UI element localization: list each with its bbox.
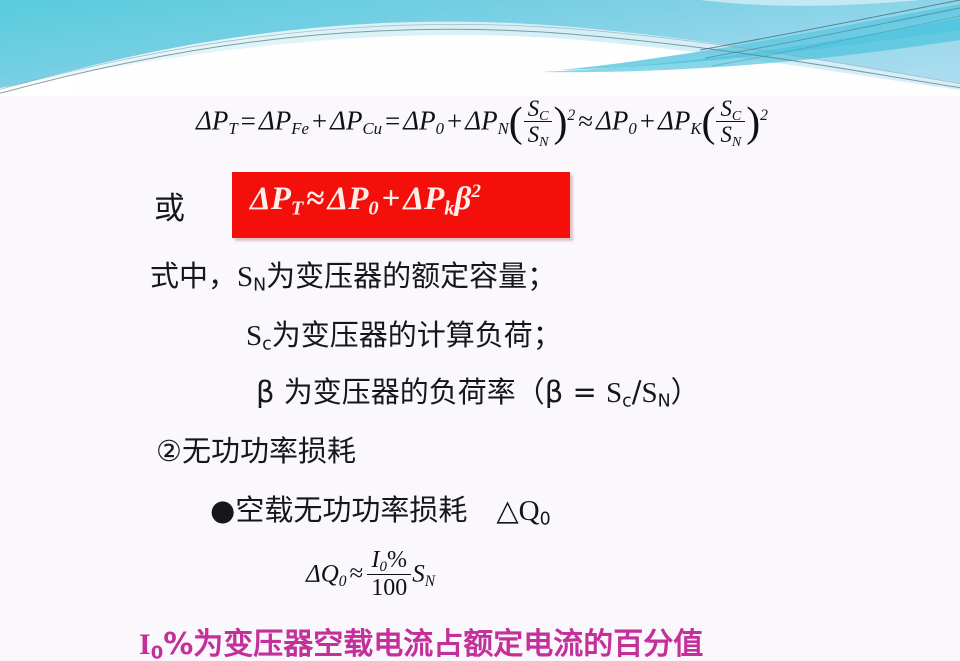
rb-P-3: P — [424, 181, 444, 217]
simplified-power-loss-formula: ΔPT≈ΔP0+ΔPkβ2 — [250, 181, 481, 218]
definition-prefix: 式中， — [150, 259, 237, 293]
q0-fraction-denominator: 100 — [367, 574, 411, 601]
ratio-denominator-S: S — [641, 377, 657, 409]
rb-sub-T: T — [291, 198, 303, 220]
formula-eq: = — [238, 106, 259, 136]
beta-equals: β = — [545, 375, 606, 409]
rb-delta-2: Δ — [327, 181, 348, 217]
highlighted-formula-box: ΔPT≈ΔP0+ΔPkβ2 — [232, 172, 570, 238]
formula-exponent-2: 2 — [760, 107, 768, 124]
bottom-note: I0%为变压器空载电流占额定电流的百分值 — [139, 619, 703, 661]
ratio-slash: / — [632, 375, 642, 409]
formula-sub-K: K — [690, 119, 701, 138]
fraction-denominator: SN — [524, 121, 553, 147]
symbol-S-c: S — [246, 320, 262, 352]
definition-close-paren: ） — [671, 375, 700, 409]
bottom-symbol-I: I — [139, 628, 151, 661]
formula-fraction-sc-sn-2: SCSN — [716, 97, 745, 148]
definition-line-beta: β 为变压器的负荷率（β = Sc/SN） — [256, 369, 700, 411]
bullet-spacer — [467, 493, 496, 527]
fraction-numerator: SC — [524, 97, 553, 122]
q0-num-I: I — [372, 547, 380, 573]
formula-approx: ≈ — [575, 106, 596, 136]
formula-delta-2: Δ — [259, 106, 275, 136]
bullet-item-no-load-loss: ●空载无功功率损耗 △Q0 — [210, 487, 551, 529]
formula-fraction-sc-sn: SCSN — [524, 97, 553, 148]
fraction-num-sub-2: C — [732, 108, 741, 124]
q0-fraction-numerator: I0% — [367, 548, 411, 574]
formula-paren-close-2: ) — [746, 100, 760, 146]
definition-line-sc: Sc为变压器的计算负荷； — [246, 312, 562, 354]
formula-paren-close: ) — [553, 100, 567, 146]
formula-paren-open: ( — [509, 100, 523, 146]
rb-sub-k: k — [444, 198, 454, 220]
section-item-2: ②无功功率损耗 — [156, 428, 356, 470]
formula-delta-5: Δ — [465, 106, 481, 136]
q0-sub-0: 0 — [339, 573, 347, 590]
q0-approx: ≈ — [347, 560, 367, 587]
rb-delta-3: Δ — [403, 181, 424, 217]
formula-sub-0: 0 — [436, 119, 444, 138]
bullet-symbol-sub: 0 — [540, 510, 551, 530]
fraction-den-sub-2: N — [732, 134, 741, 150]
formula-P-2: P — [275, 106, 292, 136]
no-load-reactive-power-loss-formula: ΔQ0≈I0%100SN — [306, 549, 435, 602]
formula-P-5: P — [481, 106, 498, 136]
fraction-den-S-2: S — [720, 122, 731, 147]
bullet-symbol-Q: Q — [519, 495, 540, 527]
rb-beta: β — [454, 181, 471, 217]
fraction-den-sub: N — [539, 134, 548, 150]
item-marker-2: ② — [156, 434, 182, 468]
q0-num-percent: % — [387, 547, 407, 573]
ratio-denominator-sub: N — [658, 392, 671, 412]
formula-sub-Fe: Fe — [291, 119, 309, 138]
definition-text-beta: 为变压器的负荷率（ — [275, 375, 545, 409]
bottom-note-text: 为变压器空载电流占额定电流的百分值 — [193, 627, 703, 661]
formula-delta-6: Δ — [596, 106, 612, 136]
rb-delta: Δ — [250, 181, 271, 217]
formula-delta: Δ — [196, 106, 212, 136]
ratio-numerator-sub: c — [622, 392, 632, 412]
formula-delta-7: Δ — [658, 106, 674, 136]
q0-delta: Δ — [306, 560, 321, 587]
symbol-beta: β — [256, 375, 275, 409]
q0-S: S — [412, 560, 425, 587]
rb-exponent: 2 — [471, 181, 481, 202]
q0-num-sub: 0 — [380, 559, 387, 575]
bullet-symbol-delta: △ — [496, 493, 518, 527]
formula-sub-0-2: 0 — [628, 119, 636, 138]
formula-delta-4: Δ — [403, 106, 419, 136]
symbol-S-sub-c: c — [262, 335, 272, 355]
slide-canvas: ΔPT=ΔPFe+ΔPCu=ΔP0+ΔPN(SCSN)2≈ΔP0+ΔPK(SCS… — [0, 0, 960, 661]
formula-P-6: P — [612, 106, 629, 136]
rb-plus: + — [379, 181, 404, 217]
formula-paren-open-2: ( — [702, 100, 716, 146]
ratio-numerator-S: S — [606, 377, 622, 409]
formula-plus-3: + — [637, 106, 658, 136]
fraction-numerator-2: SC — [716, 97, 745, 122]
symbol-S-sub-N: N — [253, 276, 266, 296]
q0-S-sub: N — [425, 573, 435, 590]
rb-P: P — [271, 181, 291, 217]
formula-sub-N: N — [498, 119, 509, 138]
formula-P-3: P — [346, 106, 363, 136]
formula-P-4: P — [419, 106, 436, 136]
fraction-num-sub: C — [539, 108, 548, 124]
definition-text-sn: 为变压器的额定容量； — [266, 259, 556, 293]
rb-approx: ≈ — [303, 181, 327, 217]
fraction-denominator-2: SN — [716, 121, 745, 147]
formula-sub-T: T — [228, 119, 237, 138]
definition-text-sc: 为变压器的计算负荷； — [272, 318, 562, 352]
formula-plus-2: + — [444, 106, 465, 136]
fraction-num-S-2: S — [720, 96, 731, 121]
bottom-symbol-sub: 0 — [151, 643, 164, 661]
symbol-S: S — [237, 261, 253, 293]
item-text-2: 无功功率损耗 — [182, 434, 356, 468]
formula-delta-3: Δ — [330, 106, 346, 136]
q0-den-value: 100 — [371, 575, 407, 601]
bullet-marker-icon: ● — [210, 493, 235, 527]
q0-Q: Q — [321, 560, 339, 587]
total-power-loss-formula: ΔPT=ΔPFe+ΔPCu=ΔP0+ΔPN(SCSN)2≈ΔP0+ΔPK(SCS… — [196, 98, 768, 149]
formula-P-7: P — [674, 106, 691, 136]
definition-line-sn: 式中，SN为变压器的额定容量； — [150, 253, 556, 295]
q0-fraction: I0%100 — [367, 548, 411, 601]
formula-P: P — [212, 106, 229, 136]
bottom-percent: % — [163, 627, 193, 661]
fraction-den-S: S — [528, 122, 539, 147]
fraction-num-S: S — [528, 96, 539, 121]
formula-eq-2: = — [382, 106, 403, 136]
swoosh-banner-icon — [0, 0, 960, 96]
bullet-text: 空载无功功率损耗 — [235, 493, 467, 527]
formula-plus: + — [309, 106, 330, 136]
rb-sub-0: 0 — [368, 198, 378, 220]
rb-P-2: P — [348, 181, 368, 217]
decorative-banner — [0, 0, 960, 96]
or-label: 或 — [154, 183, 185, 228]
formula-sub-Cu: Cu — [363, 119, 383, 138]
